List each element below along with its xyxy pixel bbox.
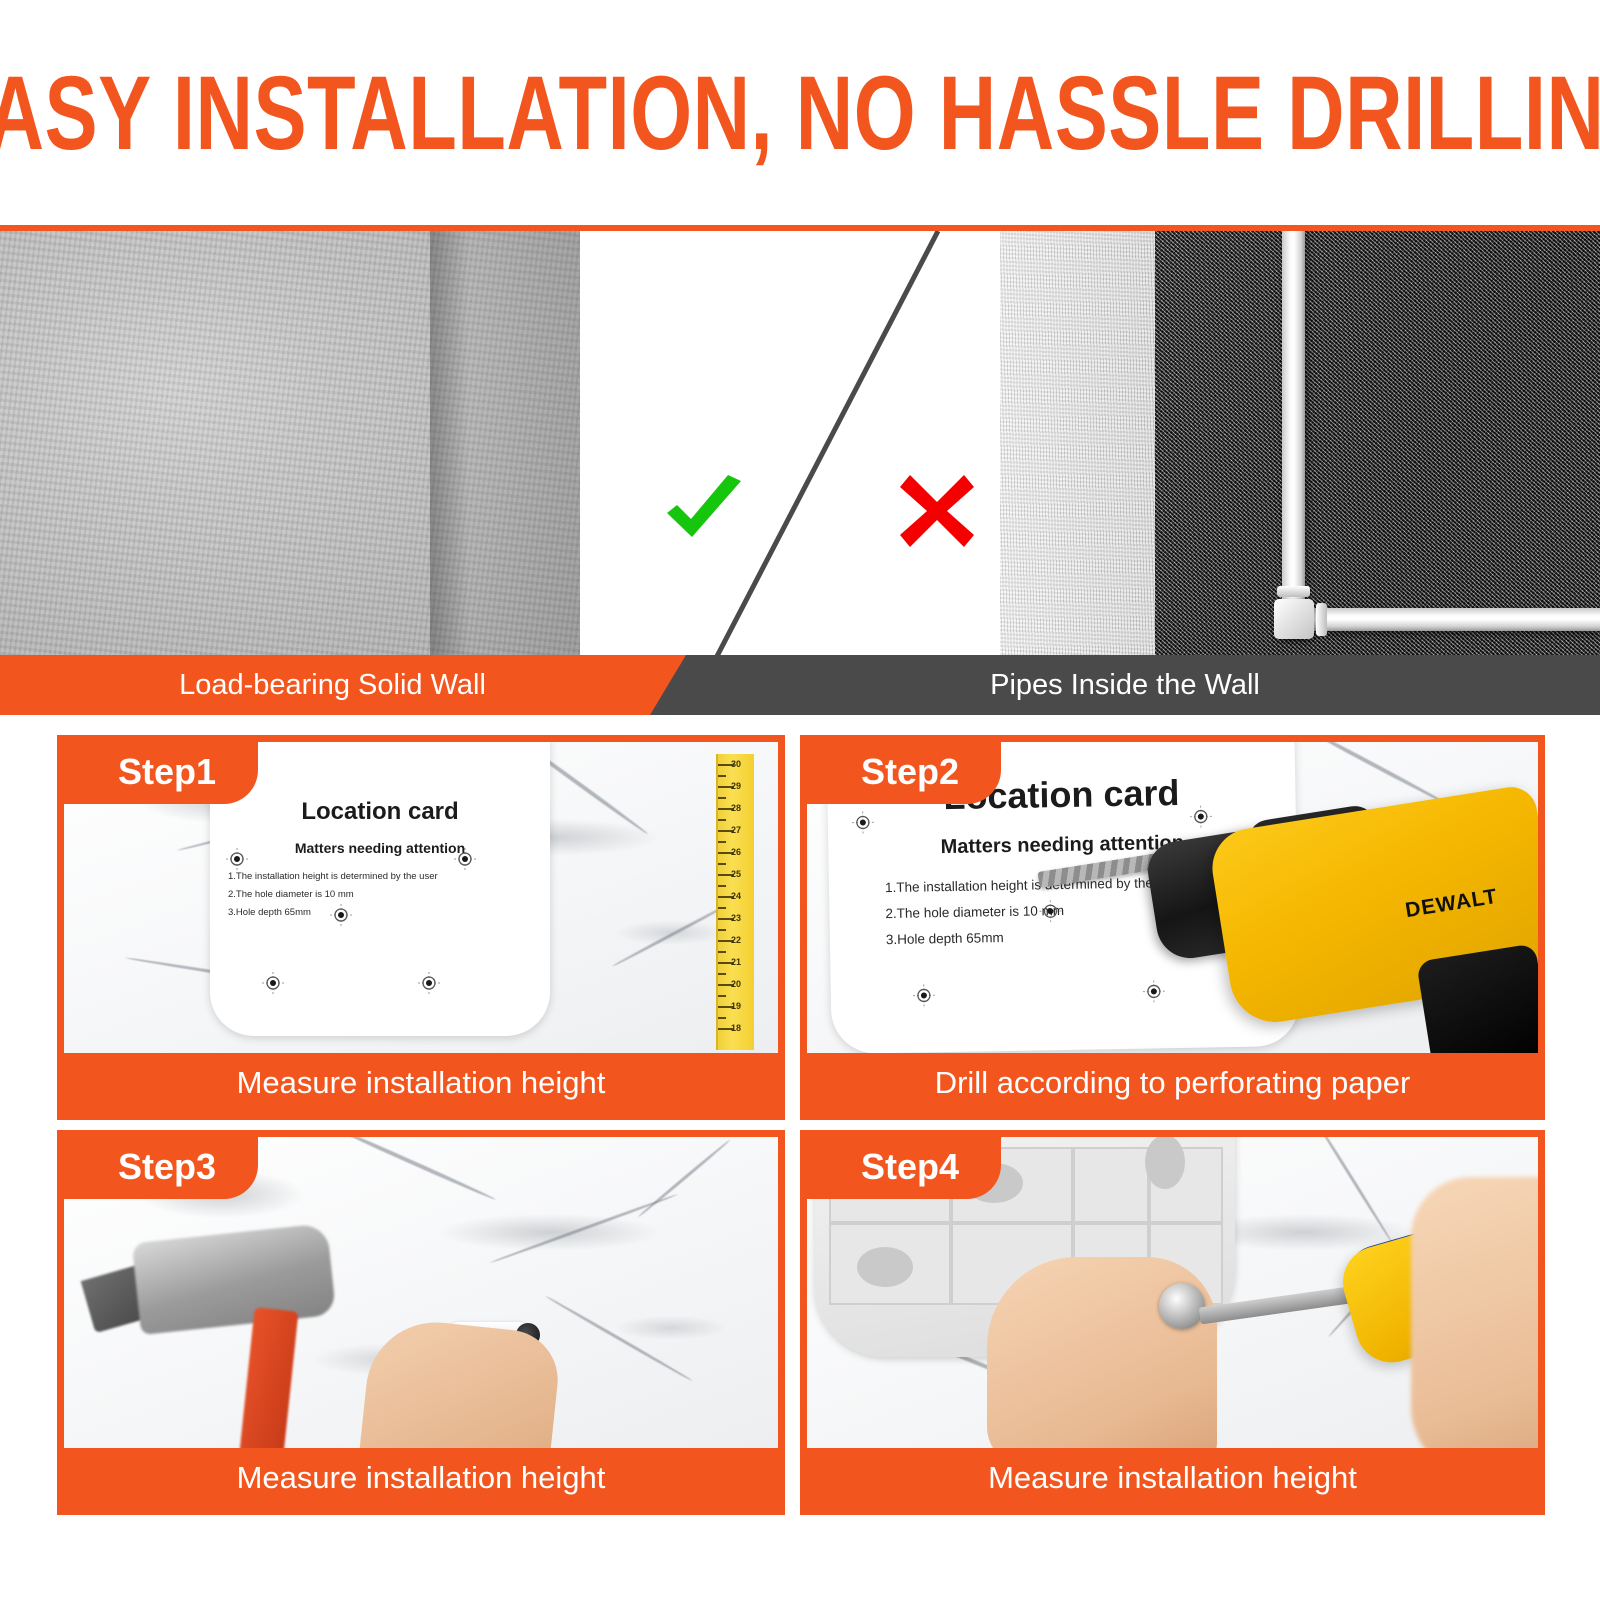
crosshair-target-icon [1143,980,1165,1002]
step-badge-1: Step1 [64,742,258,804]
crosshair-target-icon [418,972,440,994]
wall-light-strip [1000,231,1155,683]
tape-measure: 30 29 28 27 26 25 24 23 22 21 20 19 18 [716,754,754,1050]
crosshair-target-icon [262,972,284,994]
crosshair-target-icon [852,811,874,833]
comparison-white-gap [580,231,1000,683]
comparison-band: Load-bearing Solid Wall Pipes Inside the… [0,225,1600,715]
steps-grid: Location card Matters needing attention … [0,715,1600,1600]
pipe-elbow-joint [1274,599,1314,639]
green-check-mark [662,475,746,549]
step-panel-2[interactable]: Location card Matters needing attention … [800,735,1545,1120]
crosshair-target-icon [1190,805,1212,827]
step-caption-2: Drill according to perforating paper [807,1053,1538,1113]
step-caption-1: Measure installation height [64,1053,778,1113]
location-card-subtitle: Matters needing attention [210,840,550,856]
pipe-collar-upper [1277,586,1310,597]
location-card-line-1: 1.The installation height is determined … [228,871,550,882]
step-badge-2: Step2 [807,742,1001,804]
crosshair-target-icon [226,848,248,870]
step-caption-3: Measure installation height [64,1448,778,1508]
solid-wall-photo [0,231,580,683]
vertical-pipe [1282,231,1305,639]
location-card-title: Location card [210,798,550,826]
crosshair-target-icon [1039,900,1061,922]
pipe-collar-right [1316,603,1327,636]
location-card-line-2: 2.The hole diameter is 10 mm [228,889,550,900]
step-badge-3: Step3 [64,1137,258,1199]
screw-head [1159,1283,1205,1329]
step-panel-1[interactable]: Location card Matters needing attention … [57,735,785,1120]
crosshair-target-icon [330,904,352,926]
step-panel-4[interactable]: Step4 Measure installation height [800,1130,1545,1515]
hand-holding-screwdriver [1411,1177,1538,1455]
horizontal-pipe [1282,608,1600,631]
pipes-wall-photo [1000,231,1600,683]
crosshair-target-icon [454,848,476,870]
header-banner: EASY INSTALLATION, NO HASSLE DRILLING [0,0,1600,225]
crosshair-target-icon [913,984,935,1006]
location-card-step1: Location card Matters needing attention … [210,742,550,1036]
drill-grip [1416,943,1538,1060]
step-caption-4: Measure installation height [807,1448,1538,1508]
pipes-wall-label: Pipes Inside the Wall [650,655,1600,715]
solid-wall-label: Load-bearing Solid Wall [0,655,665,715]
step-panel-3[interactable]: Step3 Measure installation height [57,1130,785,1515]
page-title: EASY INSTALLATION, NO HASSLE DRILLING [0,60,1600,165]
top-accent-line [0,225,1600,231]
location-card-line-3: 3.Hole depth 65mm [228,907,550,918]
step-badge-4: Step4 [807,1137,1001,1199]
red-cross-mark [900,475,974,551]
